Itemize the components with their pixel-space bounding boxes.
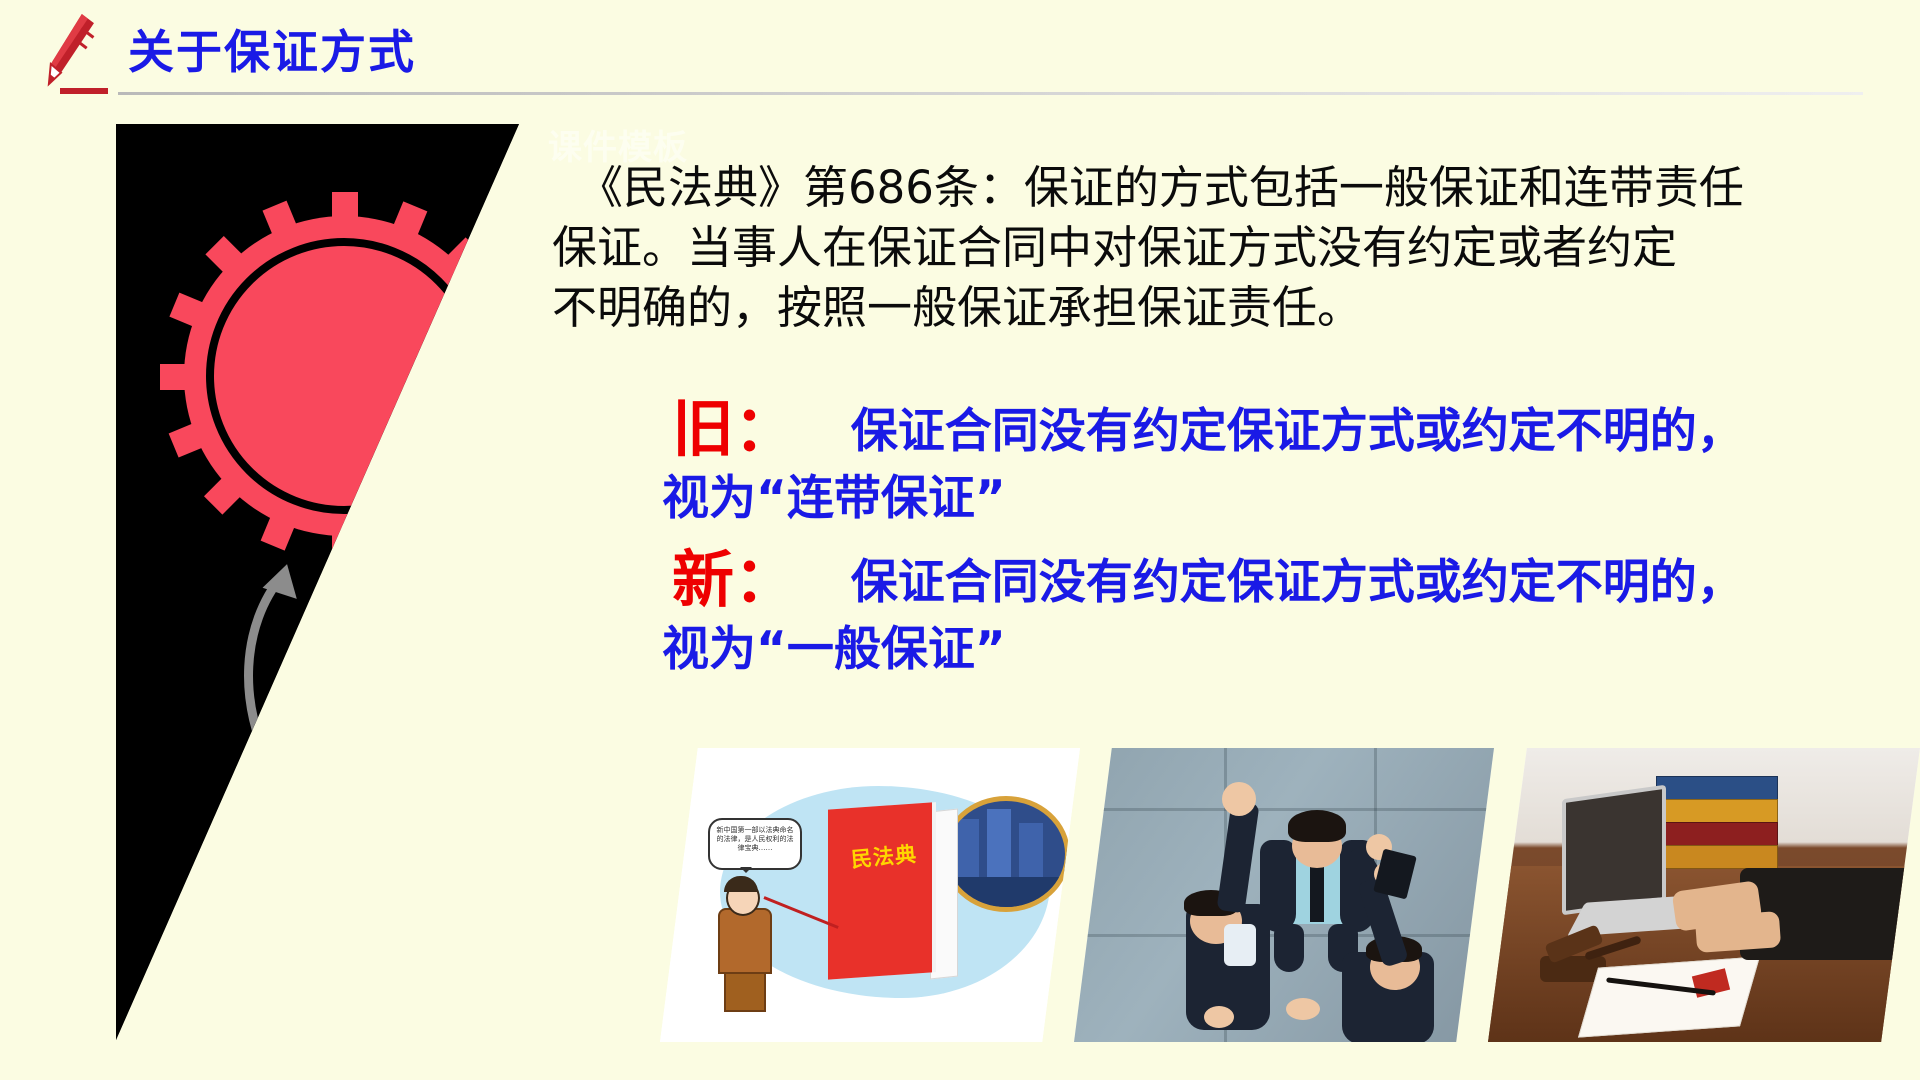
law-paragraph-line-3: 不明确的，按照一般保证承担保证责任。 xyxy=(552,278,1872,338)
pencil-icon xyxy=(42,10,112,98)
old-text-2: 视为“连带保证” xyxy=(662,466,1912,532)
gear-gray-middle xyxy=(400,590,652,842)
law-book-1 xyxy=(1656,776,1778,800)
law-paragraph-line-1: 《民法典》第686条：保证的方式包括一般保证和连带责任 xyxy=(552,158,1872,218)
man-center-leg-left xyxy=(1274,924,1304,972)
photo-businessmen xyxy=(1074,748,1494,1042)
cartoon-scene-circle xyxy=(942,796,1070,912)
photo-civil-code-cartoon: 民法典 新中国第一部以法典命名的法律，是人民权利的法律宝典…… xyxy=(660,748,1080,1042)
cartoon-building-1 xyxy=(957,819,979,879)
law-books-stack xyxy=(1656,776,1776,872)
slide-header: 关于保证方式 xyxy=(0,0,1920,108)
old-new-comparison: 旧： 保证合同没有约定保证方式或约定不明的， 视为“连带保证” 新： 保证合同没… xyxy=(672,395,1912,697)
man-center-hair xyxy=(1288,810,1346,842)
law-line-3-text: 不明确的，按照一般保证承担保证责任。 xyxy=(552,281,1362,334)
new-text-2: 视为“一般保证” xyxy=(662,617,1912,683)
cartoon-red-book xyxy=(828,802,932,979)
law-line-2-text: 保证。当事人在保证合同中对保证方式没有约定或者约定 xyxy=(552,221,1677,274)
rotation-arrow-down xyxy=(604,800,656,960)
cartoon-building-3 xyxy=(1019,823,1043,881)
cartoon-man-body xyxy=(718,908,772,974)
man-left-lower-hand xyxy=(1204,1006,1234,1028)
man-left-hand xyxy=(1222,782,1256,816)
comparison-old-line-1: 旧： 保证合同没有约定保证方式或约定不明的， xyxy=(672,395,1912,466)
arrow-head-down xyxy=(562,948,598,986)
new-marker: 新： xyxy=(672,543,796,616)
new-text-1: 保证合同没有约定保证方式或约定不明的， xyxy=(851,555,1744,610)
photo-strip: 民法典 新中国第一部以法典命名的法律，是人民权利的法律宝典…… xyxy=(660,748,1920,1042)
page-title: 关于保证方式 xyxy=(128,16,416,82)
cartoon-speech-bubble: 新中国第一部以法典命名的法律，是人民权利的法律宝典…… xyxy=(708,818,802,870)
gear-red-top xyxy=(160,192,528,560)
gear-red-bottom xyxy=(192,744,540,1040)
law-book-2 xyxy=(1656,799,1778,823)
man-right-lower-hand xyxy=(1286,998,1320,1020)
floor-seam-1 xyxy=(1074,808,1494,811)
law-book-3 xyxy=(1656,822,1778,846)
slide-root: 关于保证方式 xyxy=(0,0,1920,1080)
old-text-1: 保证合同没有约定保证方式或约定不明的， xyxy=(851,404,1744,459)
cartoon-ground xyxy=(947,877,1065,907)
man-left-shirt xyxy=(1224,924,1256,966)
photo-lawyer-laptop xyxy=(1488,748,1920,1042)
lawyer-hand-right xyxy=(1695,911,1781,953)
comparison-new-line-1: 新： 保证合同没有约定保证方式或约定不明的， xyxy=(672,546,1912,617)
law-book-4 xyxy=(1656,845,1778,869)
law-paragraph: 《民法典》第686条：保证的方式包括一般保证和连带责任 保证。当事人在保证合同中… xyxy=(552,158,1872,338)
comparison-new: 新： 保证合同没有约定保证方式或约定不明的， 视为“一般保证” xyxy=(672,546,1912,683)
law-line-1-text: 《民法典》第686条：保证的方式包括一般保证和连带责任 xyxy=(578,161,1744,214)
law-paragraph-line-2: 保证。当事人在保证合同中对保证方式没有约定或者约定 xyxy=(552,218,1872,278)
title-divider xyxy=(118,92,1863,95)
cartoon-book-pages xyxy=(930,809,958,980)
old-marker: 旧： xyxy=(672,392,796,465)
desk-papers xyxy=(1578,956,1760,1037)
comparison-old: 旧： 保证合同没有约定保证方式或约定不明的， 视为“连带保证” xyxy=(672,395,1912,532)
cartoon-building-2 xyxy=(987,809,1011,879)
laptop-screen xyxy=(1562,785,1666,916)
